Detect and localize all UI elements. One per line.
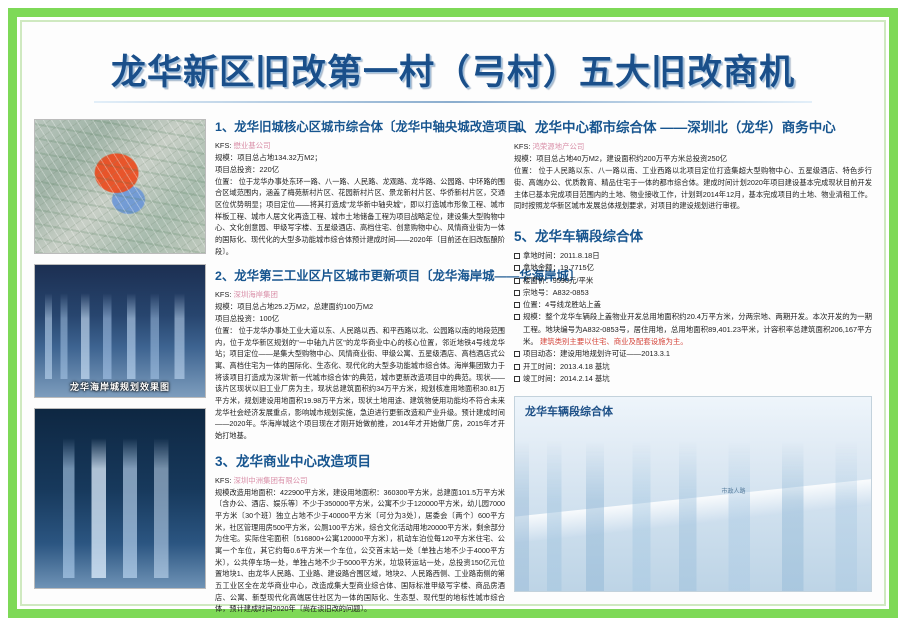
bullet-text: 楼面价：9590元/平米 <box>523 276 593 285</box>
list-item: 竣工时间：2014.2.14 基坑 <box>514 373 872 385</box>
section-4-heading: 4、龙华中心都市综合体 ——深圳北（龙华）商务中心 <box>514 119 872 137</box>
section-2-body: 位于龙华办事处工业大道以东、人民路以西、和平西路以北、公园路以南的地段范围内，位… <box>215 326 505 440</box>
poster-content: 龙华新区旧改第一村（弓村）五大旧改商机 龙华海岸城规划效果图 1、龙华旧城核心 <box>24 24 882 602</box>
longhua-commercial-center-rendering-image <box>34 408 206 589</box>
section-3-kfs: KFS: 深圳中洲集团有限公司 <box>215 475 505 487</box>
section-4-scale: 规模：项目总占地40万M2，建设面积约200万平方米总投资250亿 <box>514 153 872 165</box>
longhua-depot-complex-rendering-image: 龙华车辆段综合体 市政人路 <box>514 396 872 592</box>
field-value: 项目总占地40万M2，建设面积约200万平方米总投资250亿 <box>536 154 727 163</box>
bullet-text: 竣工时间：2014.2.14 <box>523 374 593 383</box>
kfs-label: KFS: <box>514 142 530 151</box>
bullet-text: 拿地时间：2011.8.18日 <box>523 251 600 260</box>
section-2-heading: 2、龙华第三工业区片区城市更新项目〔龙华海岸城——华海岸城〕 <box>215 268 505 285</box>
kfs-label: KFS: <box>215 290 231 299</box>
list-item: 楼面价：9590元/平米 <box>514 275 872 287</box>
bullet-text: 位置：4号线龙胜站上盖 <box>523 300 601 309</box>
section-5-heading: 5、龙华车辆段综合体 <box>514 228 872 246</box>
field-value: 项目总占地25.2万M2，总建面约100万M2 <box>237 302 373 311</box>
field-label: 规模： <box>215 153 237 162</box>
bullet-text: 拿地金额：19.7715亿 <box>523 263 594 272</box>
field-label: 项目总投资： <box>215 314 259 323</box>
section-1-investment: 项目总投资：220亿 <box>215 164 505 176</box>
position-label: 位置： <box>215 326 237 335</box>
bullet-highlight: 建筑类别主要以住宅、商业及配套设施为主。 <box>540 337 688 346</box>
bullet-text: 开工时间：2013.4.18 <box>523 362 593 371</box>
image-mini-label: 市政人路 <box>721 486 745 495</box>
list-item: 项目动态：建设用地规划许可证——2013.3.1 <box>514 348 872 360</box>
list-item: 规模：整个龙华车辆段上盖物业开发总用地面积约20.4万平方米，分两宗地、两期开发… <box>514 311 872 348</box>
field-value: 项目总占地134.32万M2； <box>237 153 322 162</box>
middle-text-column: 1、龙华旧城核心区城市综合体〔龙华中轴央城改造项目〕 KFS: 懋业基公司 规模… <box>215 119 505 589</box>
aerial-map-longhua-core-image <box>34 119 206 254</box>
poster-root: 龙华新区旧改第一村（弓村）五大旧改商机 龙华海岸城规划效果图 1、龙华旧城核心 <box>0 0 906 626</box>
image-caption: 龙华海岸城规划效果图 <box>35 380 205 393</box>
bullet-text: 宗地号：A832-0853 <box>523 288 589 297</box>
image-column: 龙华海岸城规划效果图 <box>34 119 206 589</box>
section-1: 1、龙华旧城核心区城市综合体〔龙华中轴央城改造项目〕 KFS: 懋业基公司 规模… <box>215 119 505 257</box>
section-2: 2、龙华第三工业区片区城市更新项目〔龙华海岸城——华海岸城〕 KFS: 深圳海岸… <box>215 268 505 441</box>
poster-columns: 龙华海岸城规划效果图 1、龙华旧城核心区城市综合体〔龙华中轴央城改造项目〕 KF… <box>34 119 872 589</box>
section-3-heading: 3、龙华商业中心改造项目 <box>215 453 505 471</box>
section-4-body-wrap: 位置： 位于人民路以东、八一路以南、工业西路以北项目定位打造集超大型购物中心、五… <box>514 165 872 212</box>
section-4-kfs: KFS: 鸿荣源地产公司 <box>514 141 872 153</box>
section-5-bullet-list: 拿地时间：2011.8.18日 拿地金额：19.7715亿 楼面价：9590元/… <box>514 250 872 385</box>
bullet-sub: 基坑 <box>595 374 610 383</box>
section-2-scale: 规模：项目总占地25.2万M2，总建面约100万M2 <box>215 301 505 313</box>
poster-title-area: 龙华新区旧改第一村（弓村）五大旧改商机 <box>34 30 872 109</box>
bullet-text: 项目动态：建设用地规划许可证——2013.3.1 <box>523 349 670 358</box>
position-label: 位置： <box>215 177 237 186</box>
page-title: 龙华新区旧改第一村（弓村）五大旧改商机 <box>34 44 872 95</box>
field-value: 220亿 <box>259 165 279 174</box>
kfs-value: 懋业基公司 <box>234 141 271 150</box>
section-4: 4、龙华中心都市综合体 ——深圳北（龙华）商务中心 KFS: 鸿荣源地产公司 规… <box>514 119 872 212</box>
list-item: 位置：4号线龙胜站上盖 <box>514 299 872 311</box>
section-2-body-wrap: 位置： 位于龙华办事处工业大道以东、人民路以西、和平西路以北、公园路以南的地段范… <box>215 325 505 442</box>
section-3-body: 规模改造用地面积：422900平方米，建设用地面积：360300平方米，总建面1… <box>215 487 505 615</box>
bullet-sub: 基坑 <box>595 362 610 371</box>
section-2-kfs: KFS: 深圳海岸集团 <box>215 289 505 301</box>
kfs-label: KFS: <box>215 476 231 485</box>
image-caption: 龙华车辆段综合体 <box>525 403 613 419</box>
road-overlay <box>514 476 872 547</box>
field-label: 项目总投资： <box>215 165 259 174</box>
field-label: 规模： <box>215 302 237 311</box>
section-5: 5、龙华车辆段综合体 拿地时间：2011.8.18日 拿地金额：19.7715亿… <box>514 228 872 385</box>
list-item: 宗地号：A832-0853 <box>514 287 872 299</box>
section-1-body: 位于龙华办事处东环一路、八一路、人民路、龙观路、龙华路、公园路、中环路的围合区域… <box>215 177 505 256</box>
kfs-label: KFS: <box>215 141 231 150</box>
kfs-value: 鸿荣源地产公司 <box>533 142 585 151</box>
list-item: 拿地金额：19.7715亿 <box>514 262 872 274</box>
section-1-scale: 规模：项目总占地134.32万M2； <box>215 152 505 164</box>
kfs-value: 深圳海岸集团 <box>234 290 278 299</box>
field-label: 规模： <box>514 154 536 163</box>
right-text-column: 4、龙华中心都市综合体 ——深圳北（龙华）商务中心 KFS: 鸿荣源地产公司 规… <box>514 119 872 589</box>
list-item: 拿地时间：2011.8.18日 <box>514 250 872 262</box>
section-1-kfs: KFS: 懋业基公司 <box>215 140 505 152</box>
section-3: 3、龙华商业中心改造项目 KFS: 深圳中洲集团有限公司 规模改造用地面积：42… <box>215 453 505 615</box>
list-item: 开工时间：2013.4.18 基坑 <box>514 361 872 373</box>
field-value: 100亿 <box>259 314 279 323</box>
position-label: 位置： <box>514 166 536 175</box>
title-divider <box>94 101 812 103</box>
longhua-coastal-city-rendering-image: 龙华海岸城规划效果图 <box>34 264 206 399</box>
section-1-heading: 1、龙华旧城核心区城市综合体〔龙华中轴央城改造项目〕 <box>215 119 505 136</box>
section-2-investment: 项目总投资：100亿 <box>215 313 505 325</box>
section-1-body-wrap: 位置： 位于龙华办事处东环一路、八一路、人民路、龙观路、龙华路、公园路、中环路的… <box>215 176 505 258</box>
section-4-body: 位于人民路以东、八一路以南、工业西路以北项目定位打造集超大型购物中心、五星级酒店… <box>514 166 872 210</box>
kfs-value: 深圳中洲集团有限公司 <box>234 476 308 485</box>
